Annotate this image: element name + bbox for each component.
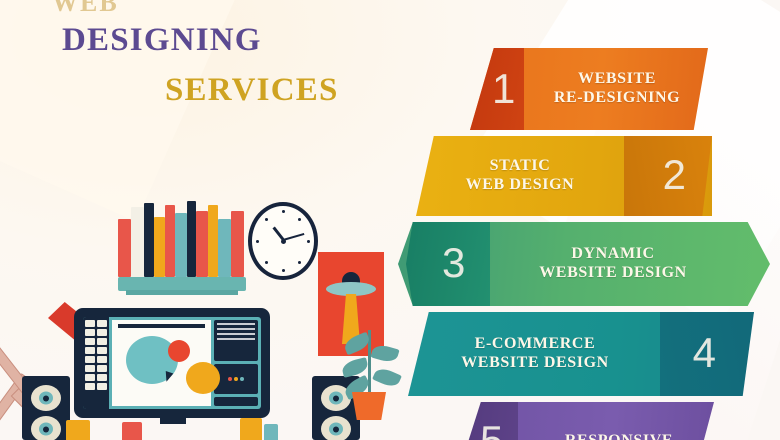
cursor-icon — [163, 371, 174, 383]
desk-item-cup — [240, 418, 262, 440]
funnel-level-4[interactable]: 4 E-COMMERCE WEBSITE DESIGN — [408, 312, 754, 396]
monitor-icon — [74, 308, 270, 418]
monitor-stand — [160, 416, 186, 424]
page-title-line1: DESIGNING — [62, 22, 262, 59]
funnel-level-1-label: WEBSITE RE-DESIGNING — [470, 70, 708, 108]
funnel-level-3-label-line2: WEBSITE DESIGN — [480, 264, 746, 283]
funnel-level-2-label-line2: WEB DESIGN — [416, 176, 624, 195]
funnel-level-2-label: STATIC WEB DESIGN — [416, 157, 712, 195]
funnel-level-3[interactable]: 3 DYNAMIC WEBSITE DESIGN — [398, 222, 770, 306]
funnel-level-2-label-line1: STATIC — [416, 157, 624, 176]
funnel-level-1-label-line2: RE-DESIGNING — [526, 89, 708, 108]
bookshelf-icon — [118, 200, 246, 295]
top-mark-text: WEB — [52, 0, 119, 18]
funnel-level-5-label-line1: RESPONSIVE — [524, 432, 714, 440]
shelf-bar — [118, 277, 246, 291]
desk-item-orange — [66, 420, 90, 440]
design-canvas — [112, 320, 211, 406]
monitor-screen — [83, 317, 261, 409]
funnel-level-5[interactable]: 5 RESPONSIVE — [456, 402, 714, 440]
funnel-level-3-label: DYNAMIC WEBSITE DESIGN — [398, 245, 770, 283]
page-title-line2: SERVICES — [165, 72, 339, 109]
funnel-level-4-label-line1: E-COMMERCE — [408, 335, 662, 354]
poster-canvas: WEB DESIGNING SERVICES — [0, 0, 780, 440]
speaker-left-icon — [22, 376, 70, 440]
funnel-level-4-label: E-COMMERCE WEBSITE DESIGN — [408, 335, 754, 373]
design-tool-palette — [83, 317, 109, 409]
funnel-level-1[interactable]: 1 WEBSITE RE-DESIGNING — [470, 48, 708, 130]
design-side-panels — [214, 320, 258, 406]
funnel-level-3-label-line1: DYNAMIC — [480, 245, 746, 264]
funnel-level-4-label-line2: WEBSITE DESIGN — [408, 354, 662, 373]
desk-item-blue — [264, 424, 278, 440]
services-funnel-diagram: 1 WEBSITE RE-DESIGNING 2 STATIC WEB DESI… — [398, 40, 780, 440]
workspace-illustration — [0, 180, 430, 440]
shelf-bar-shadow — [126, 290, 238, 295]
funnel-level-1-label-line1: WEBSITE — [526, 70, 708, 89]
funnel-level-5-label: RESPONSIVE — [456, 432, 714, 440]
funnel-level-2[interactable]: 2 STATIC WEB DESIGN — [416, 136, 712, 216]
desk-item-red — [122, 422, 142, 440]
wall-clock-icon — [248, 202, 318, 280]
